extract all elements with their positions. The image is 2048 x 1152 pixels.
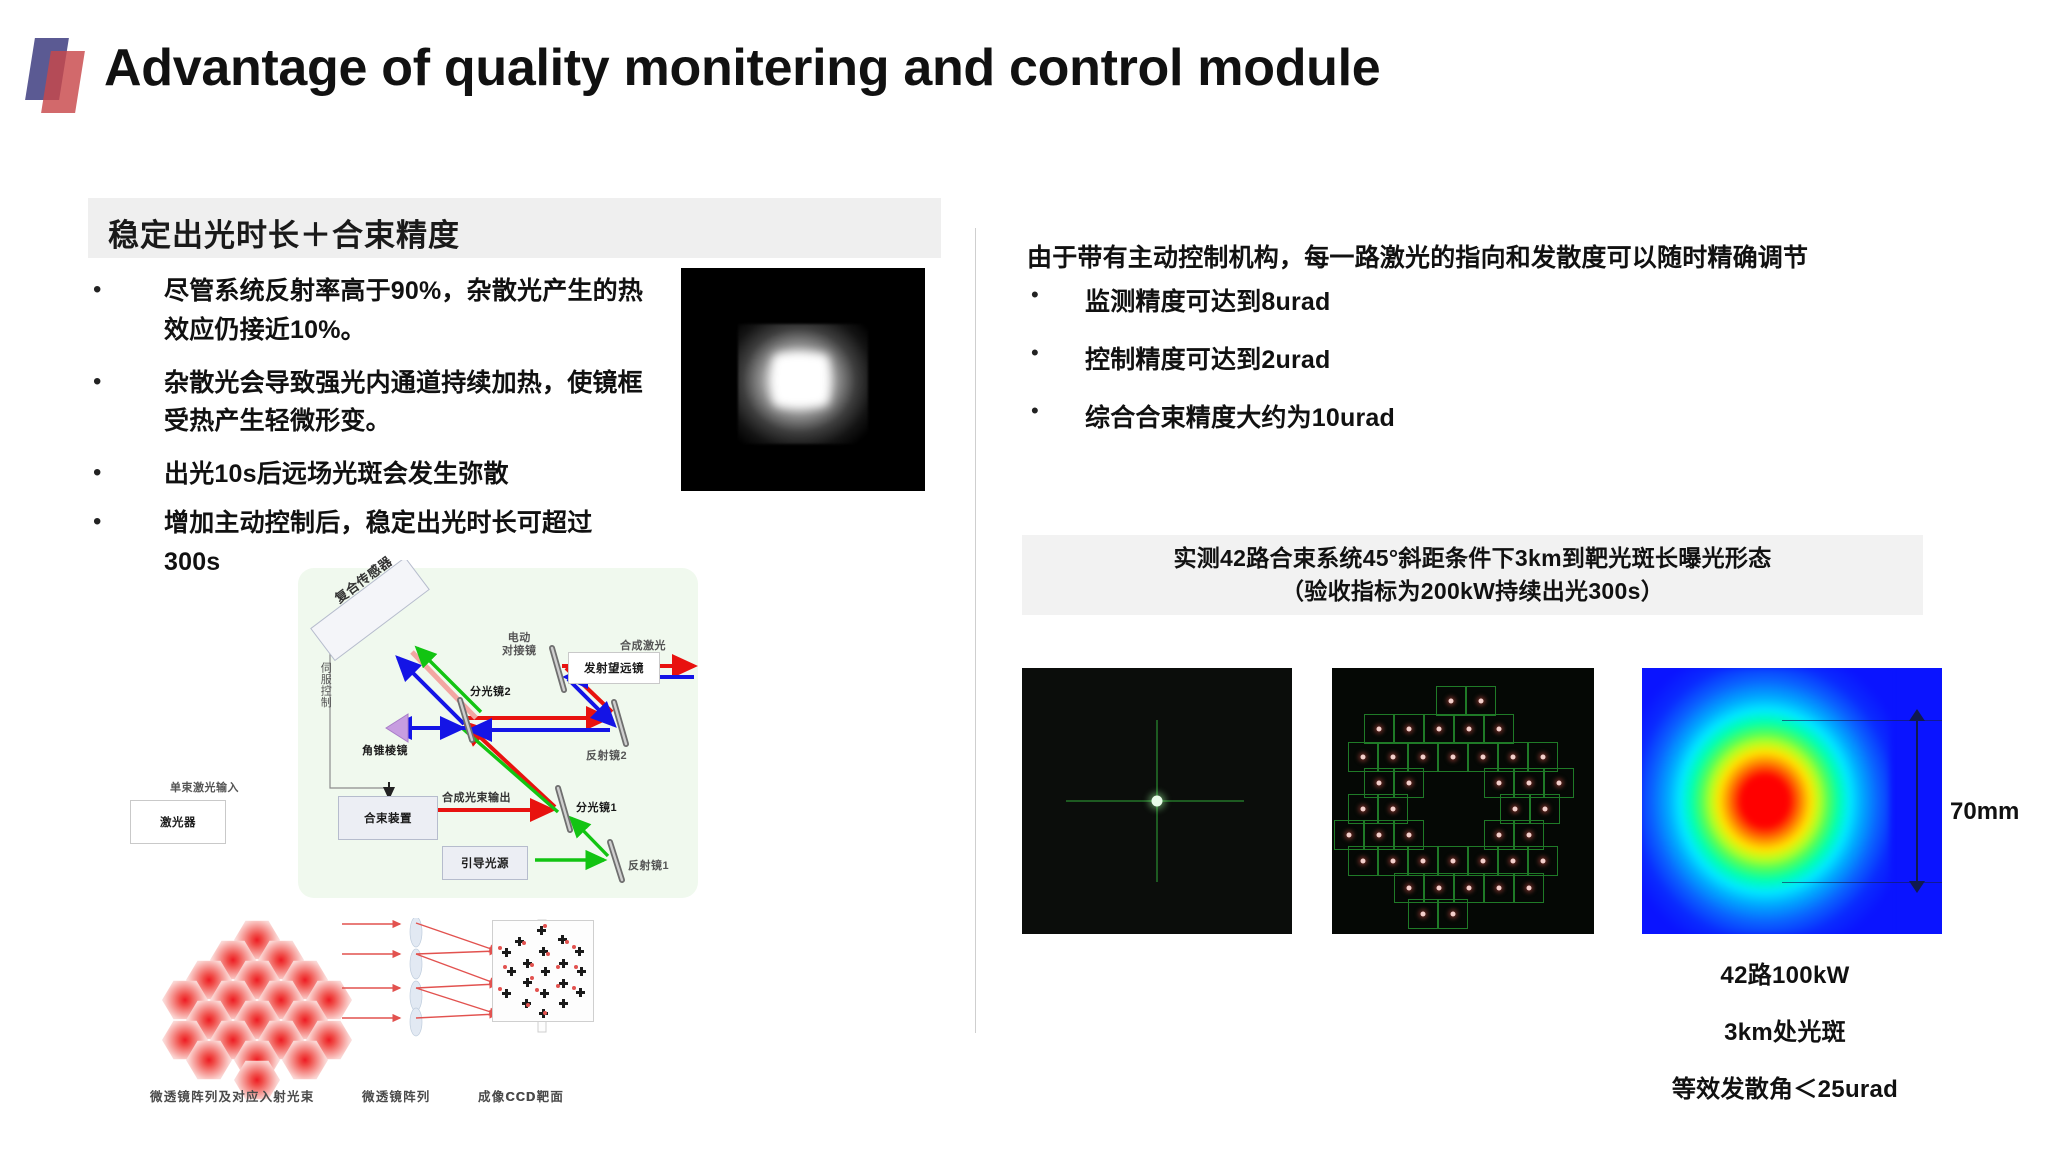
list-item: • 综合合束精度大约为10urad	[1027, 398, 1727, 434]
telescope-label: 发射望远镜	[584, 660, 644, 676]
diagram-label-beamsplitter1: 分光镜1	[576, 802, 617, 815]
optical-schematic-diagram: 激光器 合束装置 引导光源 发射望远镜 单束激光输入 合成光束输出 分光镜1 分…	[290, 560, 710, 910]
diagram-box-combiner: 合束装置	[338, 796, 438, 840]
diagram-label-corner-prism: 角锥棱镜	[362, 745, 408, 758]
bottom-caption-1: 42路100kW	[1620, 955, 1950, 990]
slide-root: Advantage of quality monitering and cont…	[0, 0, 2048, 1152]
guide-source-label: 引导光源	[461, 855, 509, 871]
intensity-heatmap-image	[1642, 668, 1942, 934]
combiner-label: 合束装置	[364, 810, 412, 826]
list-item-label: 综合合束精度大约为10urad	[1085, 404, 1395, 432]
heatmap-gaussian-spot	[1642, 668, 1890, 934]
list-item: • 尽管系统反射率高于90%，杂散光产生的热效应仍接近10%。	[88, 272, 648, 350]
section-heading-text: 稳定出光时长＋合束精度	[108, 210, 460, 255]
diagram-label-combined-output: 合成光束输出	[442, 792, 511, 805]
motor-mirror-line2: 对接镜	[502, 645, 537, 657]
list-item-label: 尽管系统反射率高于90%，杂散光产生的热效应仍接近10%。	[164, 277, 643, 344]
list-item-label: 控制精度可达到2urad	[1085, 346, 1330, 374]
section-heading-bar: 稳定出光时长＋合束精度	[88, 198, 941, 258]
list-item: • 监测精度可达到8urad	[1027, 282, 1727, 318]
bullet-dot-icon: •	[1031, 340, 1039, 366]
list-item: • 控制精度可达到2urad	[1027, 340, 1727, 376]
figure-caption-box: 实测42路合束系统45°斜距条件下3km到靶光斑长曝光形态 （验收指标为200k…	[1022, 535, 1923, 615]
motor-mirror-line1: 电动	[508, 632, 531, 644]
right-bullet-list: • 监测精度可达到8urad • 控制精度可达到2urad • 综合合束精度大约…	[1027, 282, 1727, 456]
diagram-label-combined-laser: 合成激光	[620, 640, 666, 653]
diagram-label-mirror2: 反射镜2	[586, 750, 627, 763]
bullet-dot-icon: •	[1031, 282, 1039, 308]
scale-label: 70mm	[1950, 798, 2019, 826]
list-item: • 杂散光会导致强光内通道持续加热，使镜框受热产生轻微形变。	[88, 364, 648, 442]
ccd-target-caption: CCD靶面	[506, 1086, 564, 1105]
list-item: • 出光10s后远场光斑会发生弥散	[88, 455, 648, 494]
list-item-label: 杂散光会导致强光内通道持续加热，使镜框受热产生轻微形变。	[164, 369, 643, 436]
bottom-caption-3: 等效发散角＜25urad	[1620, 1069, 1950, 1104]
microlens-left-caption: 微透镜阵列及对应入射光束	[150, 1086, 314, 1105]
measurement-image-row	[1022, 668, 1942, 934]
bullet-dot-icon: •	[1031, 398, 1039, 424]
bottom-caption-2: 3km处光斑	[1620, 1012, 1950, 1047]
heatmap-measure-arrow	[1916, 720, 1918, 882]
figure-caption-line2: （验收指标为200kW持续出光300s）	[1281, 575, 1664, 608]
diagram-label-servo-control: 伺服控制	[318, 662, 331, 708]
crosshair-center-spot	[1152, 796, 1163, 807]
bullet-dot-icon: •	[93, 506, 101, 538]
bullet-dot-icon: •	[93, 274, 101, 306]
hex-microlens-array	[160, 918, 360, 1078]
crosshair-target-image	[1022, 668, 1292, 934]
bullet-dot-icon: •	[93, 457, 101, 489]
diagram-box-telescope: 发射望远镜	[568, 652, 660, 684]
microlens-mid-caption: 微透镜阵列	[362, 1086, 431, 1105]
left-bullet-list: • 尽管系统反射率高于90%，杂散光产生的热效应仍接近10%。 • 杂散光会导致…	[88, 272, 648, 591]
beam-array-image	[1332, 668, 1594, 934]
bottom-caption-group: 42路100kW 3km处光斑 等效发散角＜25urad	[1620, 955, 1950, 1126]
column-divider	[975, 228, 976, 1033]
diagram-label-beamsplitter2: 分光镜2	[470, 686, 511, 699]
diagram-box-laser-source: 激光器	[130, 800, 226, 844]
diagram-label-motorized-mirror: 电动 对接镜	[502, 632, 537, 658]
list-item-label: 出光10s后远场光斑会发生弥散	[164, 460, 509, 488]
diagram-label-input: 单束激光输入	[170, 782, 239, 795]
diagram-label-mirror1: 反射镜1	[628, 860, 669, 873]
diagram-box-guide-source: 引导光源	[442, 846, 528, 880]
ccd-target-panel	[492, 920, 594, 1022]
microlens-figure-row: 微透镜阵列及对应入射光束	[150, 918, 630, 1128]
laser-source-label: 激光器	[160, 814, 196, 830]
right-intro-text: 由于带有主动控制机构，每一路激光的指向和发散度可以随时精确调节	[1027, 238, 1808, 274]
spot-core	[773, 354, 829, 406]
list-item-label: 监测精度可达到8urad	[1085, 288, 1330, 316]
bullet-dot-icon: •	[93, 366, 101, 398]
left-column: 稳定出光时长＋合束精度 • 尽管系统反射率高于90%，杂散光产生的热效应仍接近1…	[0, 0, 975, 1152]
far-field-spot-image	[681, 268, 925, 491]
figure-caption-line1: 实测42路合束系统45°斜距条件下3km到靶光斑长曝光形态	[1173, 542, 1771, 575]
